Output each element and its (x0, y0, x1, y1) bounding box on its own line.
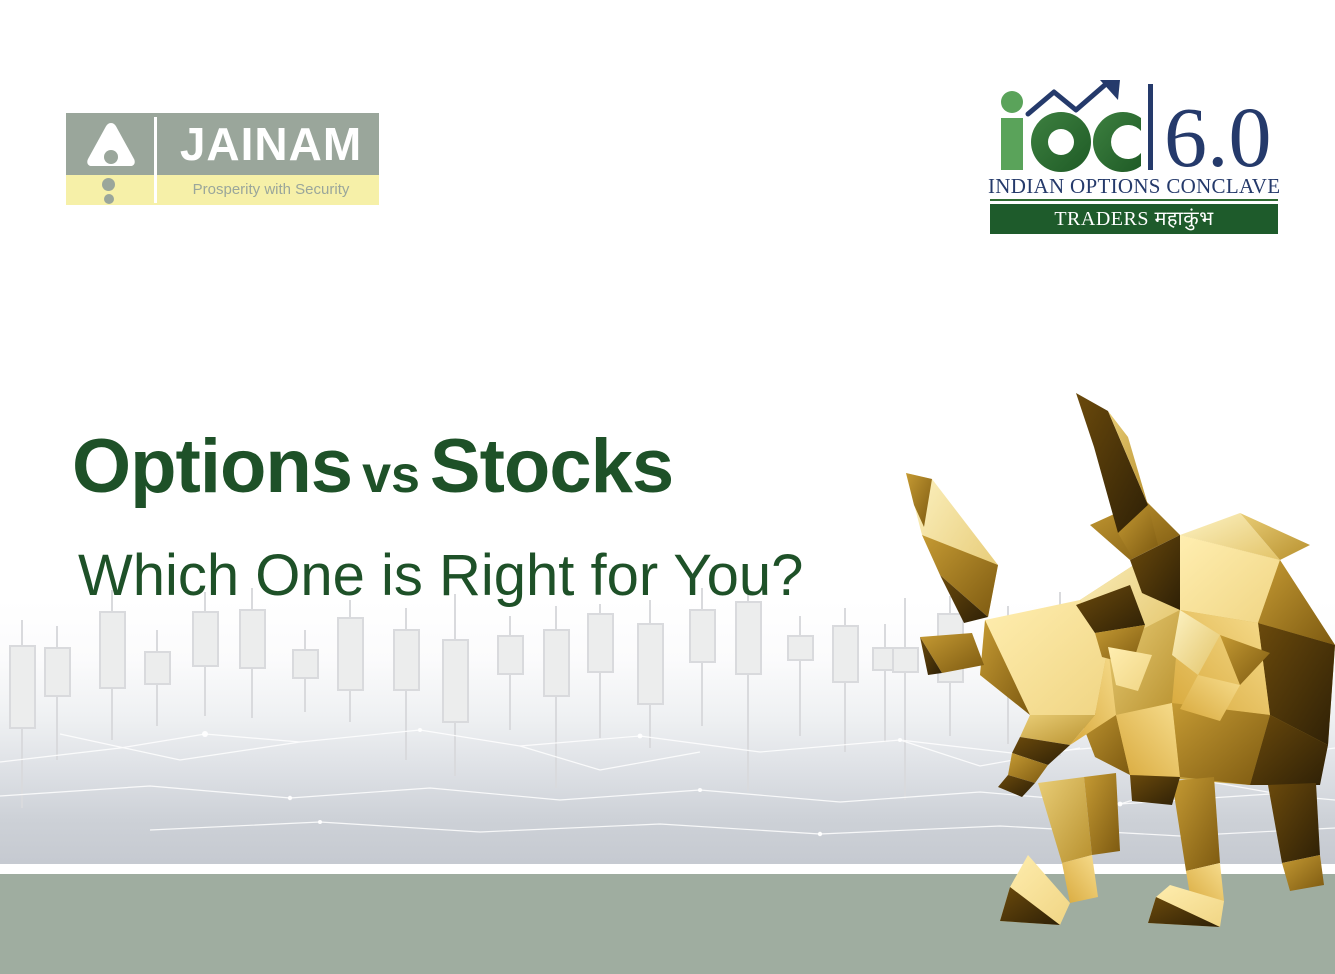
jainam-logo[interactable]: JAINAM Prosperity with Security (66, 113, 379, 205)
title-part-stocks: Stocks (430, 424, 673, 509)
ioc-c-letter (1093, 112, 1141, 172)
jainam-tagline: Prosperity with Security (166, 177, 376, 203)
triangle-dot-icon (84, 121, 138, 169)
ioc-i-dot (1001, 91, 1023, 113)
jainam-wordmark: JAINAM (166, 116, 376, 172)
golden-bull-illustration (880, 385, 1335, 930)
ioc-i-stem (1001, 118, 1023, 170)
page-subtitle: Which One is Right for You? (78, 540, 803, 612)
ioc-event-logo[interactable]: 6.0 INDIAN OPTIONS CONCLAVE TRADERS महाक… (988, 78, 1280, 233)
page-title: OptionsvsStocks (72, 424, 673, 518)
logo-dot-1 (102, 178, 115, 191)
slide-canvas: JAINAM Prosperity with Security (0, 0, 1335, 974)
title-part-options: Options (72, 424, 352, 509)
logo-dot-2 (104, 194, 114, 204)
ioc-divider (1148, 84, 1153, 170)
ioc-version-text: 6.0 (1164, 89, 1272, 176)
ioc-mark: 6.0 (988, 78, 1280, 176)
ioc-subtitle: INDIAN OPTIONS CONCLAVE (988, 174, 1280, 198)
title-vs: vs (352, 446, 430, 504)
ioc-banner: TRADERS महाकुंभ (990, 204, 1278, 234)
ioc-underline (990, 199, 1278, 201)
logo-divider (154, 117, 157, 203)
growth-arrow-icon (1028, 84, 1106, 114)
